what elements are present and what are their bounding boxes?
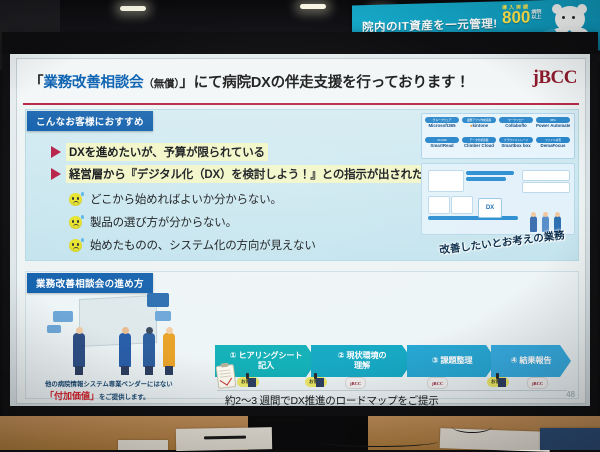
- triangle-bullet-icon: [51, 146, 61, 158]
- product-cell: グループウェア Microsoft365: [425, 117, 459, 129]
- icon-chip: [428, 196, 450, 214]
- product-cell: ワークフロー Collaboflo: [499, 117, 533, 129]
- title-underline: [23, 103, 579, 105]
- role-tag-customer: お客様: [305, 377, 327, 387]
- face-bullet: どこから始めればよいか分からない。: [69, 191, 282, 207]
- arrow-bullet-text: 経営層から『デジタル化（DX）を検討しよう！』との指示が出された: [66, 165, 426, 183]
- ceiling-light: [300, 4, 326, 9]
- cable: [452, 420, 492, 433]
- meeting-illustration: [31, 289, 207, 375]
- cable: [318, 436, 438, 447]
- label-chip: [428, 216, 518, 220]
- role-tag-jbcc: jBCC: [427, 377, 448, 389]
- process-step-2: ② 現状環境の理解: [311, 345, 413, 377]
- dx-chip: DX: [478, 198, 502, 218]
- worried-face-icon: [69, 216, 82, 229]
- label-chip: [522, 182, 570, 193]
- worried-face-icon: [69, 193, 82, 206]
- role-tag-customer: お客様: [237, 377, 259, 387]
- product-caption: クラウドストレージ: [499, 137, 533, 143]
- speech-bubble-icon: [147, 293, 169, 307]
- person-figure: [143, 333, 155, 367]
- product-cell: クラウドストレージ Smartbox box: [499, 137, 533, 149]
- product-name: SmartRead: [425, 143, 459, 149]
- face-bullet-text: 始めたものの、システム化の方向が見えない: [90, 237, 316, 253]
- face-bullet-text: 製品の選び方が分からない。: [90, 214, 237, 230]
- desk-paper: [176, 427, 272, 451]
- credit-line-1: 他の病院情報システム専業ベンダーにはない: [45, 379, 173, 388]
- ceiling-light: [120, 6, 146, 11]
- person-figure: [530, 216, 537, 232]
- product-cell: AI-OCR SmartRead: [425, 137, 459, 149]
- arrow-bullet-text: DXを進めたいが、予算が限られている: [66, 143, 268, 161]
- product-cell: ファイル共有 DemaFocus: [536, 137, 570, 149]
- face-bullet: 始めたものの、システム化の方向が見えない: [69, 237, 316, 253]
- arrow-bullet: 経営層から『デジタル化（DX）を検討しよう！』との指示が出された: [51, 165, 426, 183]
- product-row: AI-OCR SmartRead データ分析基盤 Climber Cloud ク…: [425, 137, 571, 149]
- solution-diagram: DX: [421, 163, 575, 235]
- product-name: Collaboflo: [499, 123, 533, 129]
- recommend-section-label: こんなお客様におすすめ: [27, 111, 153, 131]
- slide-title-paren: （無償）: [143, 78, 179, 90]
- product-name: ●kintone: [462, 123, 496, 129]
- product-name: Smartbox box: [499, 143, 533, 149]
- cloud-chip: [428, 170, 464, 192]
- monitor-bezel: [2, 32, 598, 54]
- product-name: Power Automate: [536, 123, 570, 129]
- product-row: グループウェア Microsoft365 業務アプリ作成基盤 ●kintone …: [425, 117, 571, 129]
- triangle-bullet-icon: [51, 168, 61, 180]
- icon-chip: [451, 196, 473, 214]
- role-tags: お客様 お客様 jBCC jBCC お客様 jBCC: [215, 377, 571, 389]
- product-name: Climber Cloud: [462, 143, 496, 149]
- slide-page-number: 48: [566, 390, 575, 399]
- monitor-screen: 「業務改善相談会（無償）」にて病院DXの伴走支援を行っております！ jBCC こ…: [10, 54, 590, 406]
- presentation-slide: 「業務改善相談会（無償）」にて病院DXの伴走支援を行っております！ jBCC こ…: [10, 54, 590, 406]
- desk-paper: [440, 428, 551, 452]
- product-cell: 業務アプリ作成基盤 ●kintone: [462, 117, 496, 129]
- display-monitor: 「業務改善相談会（無償）」にて病院DXの伴走支援を行っております！ jBCC こ…: [2, 32, 598, 420]
- process-steps: ① ヒアリングシート記入 ② 現状環境の理解 ③ 課題整理 ④ 結果報告: [215, 345, 571, 377]
- product-cell: RPA Power Automate: [536, 117, 570, 129]
- value-add-text: 「付加価値」: [45, 391, 99, 401]
- speech-bubble-icon: [47, 325, 61, 333]
- product-name: Microsoft365: [425, 123, 459, 129]
- label-chip: [466, 177, 506, 181]
- divider: [217, 390, 567, 391]
- product-logo-panel: グループウェア Microsoft365 業務アプリ作成基盤 ●kintone …: [421, 113, 575, 159]
- role-tag-jbcc: jBCC: [527, 377, 548, 389]
- product-cell: データ分析基盤 Climber Cloud: [462, 137, 496, 149]
- person-figure: [73, 333, 85, 367]
- process-step-4: ④ 結果報告: [491, 345, 571, 377]
- process-step-3: ③ 課題整理: [407, 345, 497, 377]
- person-figure: [119, 333, 131, 367]
- role-tag-jbcc: jBCC: [345, 377, 366, 389]
- slide-canvas: 「業務改善相談会（無償）」にて病院DXの伴走支援を行っております！ jBCC こ…: [16, 58, 586, 404]
- roadmap-note: 約2～3 週間でDX推進のロードマップをご提示: [225, 393, 439, 406]
- product-name: DemaFocus: [536, 143, 570, 149]
- person-figure: [163, 333, 175, 367]
- face-bullet: 製品の選び方が分からない。: [69, 214, 237, 230]
- desk-folder: [540, 428, 600, 450]
- role-tag-customer: お客様: [487, 377, 509, 387]
- worried-face-icon: [69, 239, 82, 252]
- slide-title-highlight: 業務改善相談会: [43, 75, 143, 91]
- speech-bubble-icon: [155, 311, 171, 321]
- face-bullet-text: どこから始めればよいか分からない。: [90, 191, 282, 207]
- desk-paper: [118, 440, 168, 450]
- speech-bubble-icon: [53, 311, 73, 322]
- slide-title: 「業務改善相談会（無償）」にて病院DXの伴走支援を行っております！: [29, 71, 470, 92]
- label-chip: [522, 170, 570, 181]
- arrow-bullet: DXを進めたいが、予算が限られている: [51, 143, 268, 161]
- label-chip: [466, 171, 514, 175]
- jbcc-logo: jBCC: [533, 67, 577, 89]
- credit-line-2: 「付加価値」をご提供します。: [45, 389, 150, 402]
